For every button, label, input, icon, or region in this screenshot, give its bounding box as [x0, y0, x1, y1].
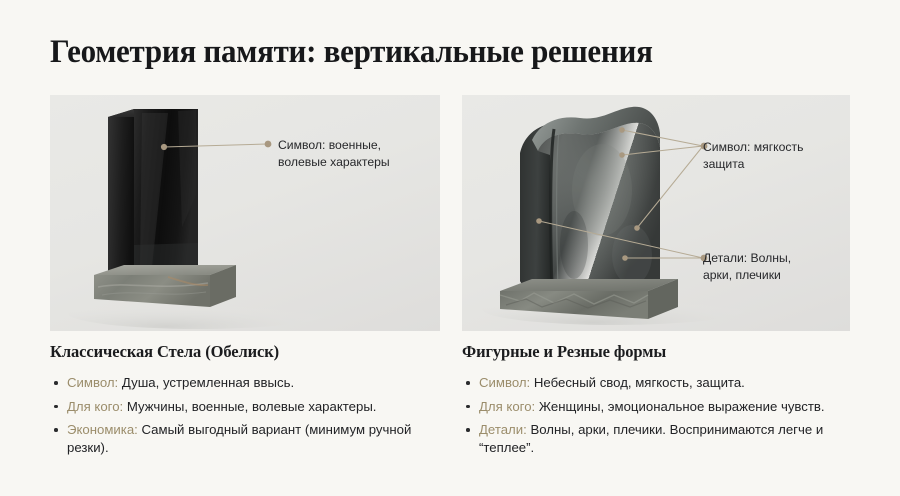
- annotation-left-1: Символ: военные, волевые характеры: [278, 137, 390, 170]
- bullet-label: Детали:: [479, 422, 527, 437]
- bullet-label: Символ:: [479, 375, 530, 390]
- bullet-label: Символ:: [67, 375, 118, 390]
- figured-monument-illustration: [462, 95, 850, 331]
- list-item: Экономика: Самый выгодный вариант (миним…: [50, 421, 450, 456]
- monument-shade-1: [560, 211, 588, 279]
- page-title: Геометрия памяти: вертикальные решения: [50, 34, 653, 71]
- left-column: Классическая Стела (Обелиск) Символ: Душ…: [50, 342, 450, 462]
- slide-root: Геометрия памяти: вертикальные решения: [0, 0, 900, 496]
- left-column-bullets: Символ: Душа, устремленная ввысь. Для ко…: [50, 374, 450, 456]
- stele-side: [108, 109, 134, 279]
- right-column: Фигурные и Резные формы Символ: Небесный…: [462, 342, 882, 462]
- bullet-text: Небесный свод, мягкость, защита.: [530, 375, 745, 390]
- left-column-heading: Классическая Стела (Обелиск): [50, 342, 450, 362]
- bullet-label: Экономика:: [67, 422, 138, 437]
- right-column-bullets: Символ: Небесный свод, мягкость, защита.…: [462, 374, 882, 456]
- list-item: Детали: Волны, арки, плечики. Воспринима…: [462, 421, 882, 456]
- list-item: Для кого: Женщины, эмоциональное выражен…: [462, 398, 882, 416]
- list-item: Символ: Душа, устремленная ввысь.: [50, 374, 450, 392]
- bullet-label: Для кого:: [67, 399, 123, 414]
- monument-highlight-2: [612, 225, 652, 285]
- bullet-text: Мужчины, военные, волевые характеры.: [123, 399, 376, 414]
- annotation-right-2: Детали: Волны, арки, плечики: [703, 250, 791, 283]
- bullet-text: Волны, арки, плечики. Воспринимаются лег…: [479, 422, 823, 455]
- annotation-right-1: Символ: мягкость защита: [703, 139, 803, 172]
- image-panel-right: [462, 95, 850, 331]
- bullet-text: Женщины, эмоциональное выражение чувств.: [535, 399, 824, 414]
- classic-stele-illustration: [50, 95, 440, 331]
- list-item: Для кого: Мужчины, военные, волевые хара…: [50, 398, 450, 416]
- bullet-text: Душа, устремленная ввысь.: [118, 375, 294, 390]
- list-item: Символ: Небесный свод, мягкость, защита.: [462, 374, 882, 392]
- right-column-heading: Фигурные и Резные формы: [462, 342, 882, 362]
- bullet-label: Для кого:: [479, 399, 535, 414]
- image-panel-left: [50, 95, 440, 331]
